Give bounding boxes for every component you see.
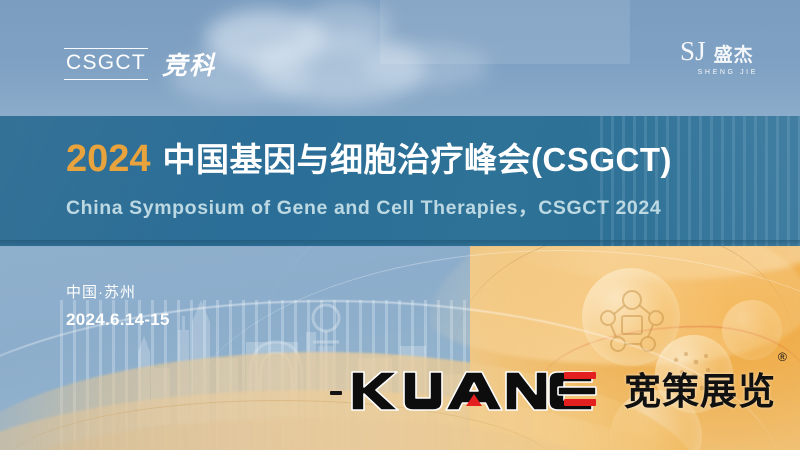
event-title-block: 2024 中国基因与细胞治疗峰会(CSGCT) China Symposium …	[66, 140, 672, 220]
kuance-wordmark-icon	[348, 368, 610, 414]
csgct-logo-chinese: 竞科	[162, 46, 216, 82]
sky-sheen-panel	[380, 0, 630, 64]
csgct-brand-logo[interactable]: CSGCT 竞科	[64, 46, 216, 82]
cloud-shape	[300, 2, 390, 48]
event-year: 2024	[66, 140, 151, 178]
csgct-logo-mark: CSGCT	[64, 48, 148, 79]
title-main-row: 2024 中国基因与细胞治疗峰会(CSGCT)	[66, 140, 672, 178]
event-location: 中国·苏州	[66, 281, 170, 302]
band-edge-shadow	[0, 240, 800, 247]
event-date: 2024.6.14-15	[66, 310, 170, 330]
logo-dash-accent	[330, 391, 342, 395]
organizer-logo-kuance[interactable]: 宽策展览 ®	[330, 368, 787, 414]
conference-banner: CSGCT 竞科 SJ 盛杰 SHENG JIE 2024 中国基因与细胞治疗峰…	[0, 0, 800, 450]
registered-trademark-icon: ®	[778, 350, 787, 364]
sponsor-logo-pinyin: SHENG JIE	[698, 69, 758, 76]
event-title-chinese: 中国基因与细胞治疗峰会(CSGCT)	[163, 143, 672, 176]
organizer-name-chinese: 宽策展览	[624, 373, 776, 410]
sponsor-logo-row: SJ 盛杰	[680, 38, 754, 65]
sponsor-logo-initials: SJ	[680, 38, 706, 65]
event-info-block: 中国·苏州 2024.6.14-15	[66, 281, 170, 330]
sponsor-logo-chinese: 盛杰	[714, 46, 754, 65]
sponsor-logo-shengjie[interactable]: SJ 盛杰 SHENG JIE	[676, 38, 758, 76]
event-title-english: China Symposium of Gene and Cell Therapi…	[66, 191, 672, 220]
